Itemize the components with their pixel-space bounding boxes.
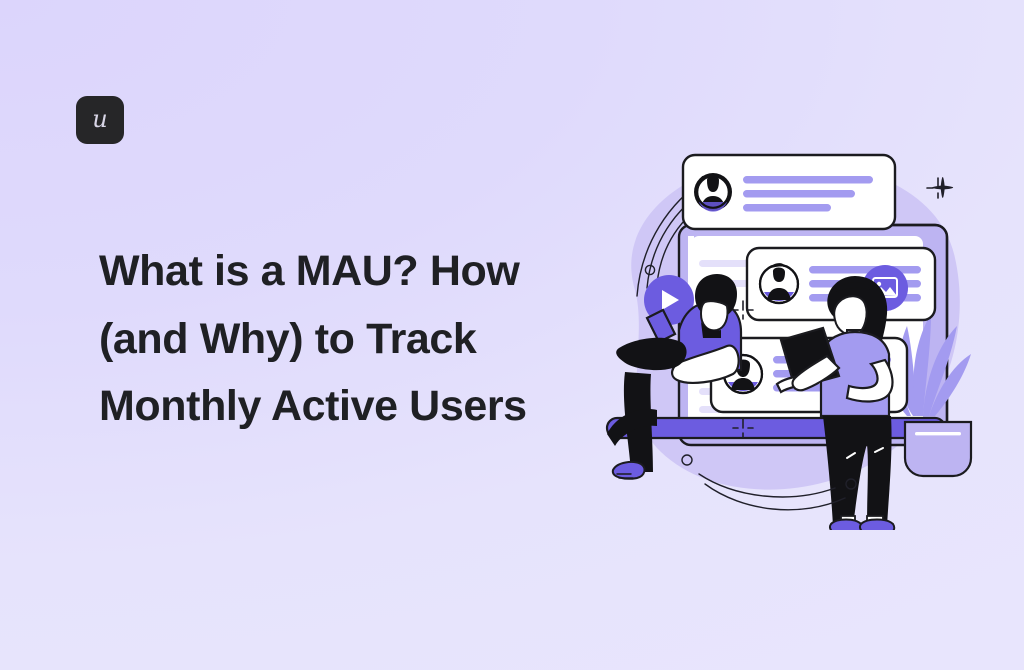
page-root: u What is a MAU? How (and Why) to Track … xyxy=(0,0,1024,670)
page-title-line-2: (and Why) to Track xyxy=(99,306,599,374)
logo-glyph: u xyxy=(92,107,107,131)
monitor-bench xyxy=(607,418,945,438)
userpilot-logo[interactable]: u xyxy=(76,96,124,144)
sparkle-icon xyxy=(927,178,949,198)
page-title-line-3: Monthly Active Users xyxy=(99,373,599,441)
page-title-line-1: What is a MAU? How xyxy=(99,238,599,306)
user-avatar-icon xyxy=(760,263,798,303)
page-title: What is a MAU? How (and Why) to Track Mo… xyxy=(99,238,599,441)
profile-card-top xyxy=(683,155,895,229)
team-analytics-illustration xyxy=(595,140,995,530)
